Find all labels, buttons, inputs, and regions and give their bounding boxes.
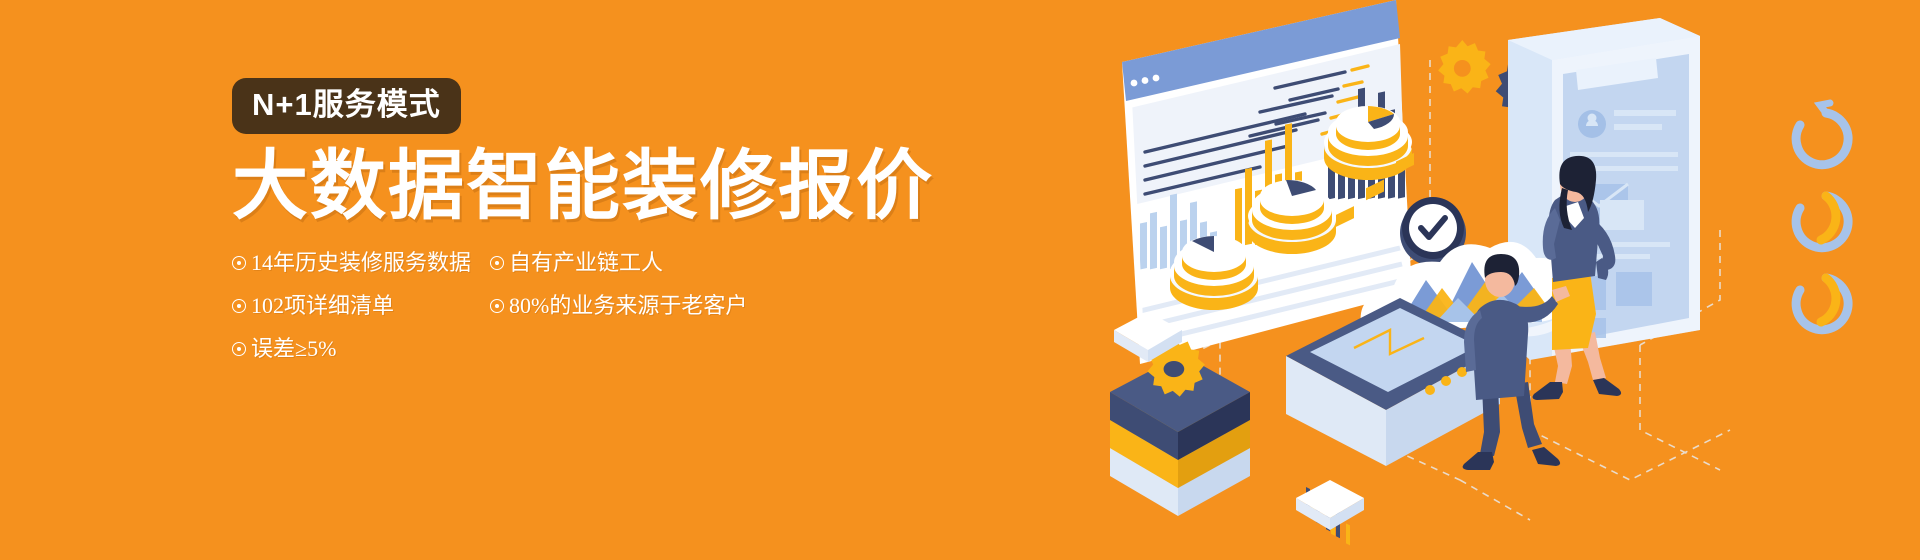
list-item-label: 14年历史装修服务数据: [251, 252, 471, 274]
list-item: 14年历史装修服务数据: [232, 252, 490, 274]
promo-banner: N+1服务模式 大数据智能装修报价 14年历史装修服务数据 102项详细清单 误…: [0, 0, 1920, 560]
database-gear-stack: [1110, 338, 1250, 516]
feature-column-right: 自有产业链工人 80%的业务来源于老客户: [490, 252, 810, 381]
page-title: 大数据智能装修报价: [232, 148, 992, 226]
gear-icon-yellow: [1438, 40, 1491, 94]
list-item-label: 80%的业务来源于老客户: [509, 295, 747, 317]
feature-list: 14年历史装修服务数据 102项详细清单 误差≥5% 自有产业链工人: [232, 252, 992, 381]
list-item: 误差≥5%: [232, 338, 490, 360]
isometric-illustration: [1100, 0, 1920, 560]
list-item-label: 自有产业链工人: [509, 252, 663, 274]
list-item: 80%的业务来源于老客户: [490, 295, 810, 317]
circled-dot-icon: [232, 256, 246, 270]
service-model-badge: N+1服务模式: [232, 78, 461, 134]
list-item-label: 102项详细清单: [251, 295, 394, 317]
circled-dot-icon: [490, 256, 504, 270]
circled-dot-icon: [232, 342, 246, 356]
circled-dot-icon: [490, 299, 504, 313]
list-item-label: 误差≥5%: [251, 338, 336, 360]
list-item: 102项详细清单: [232, 295, 490, 317]
list-item: 自有产业链工人: [490, 252, 810, 274]
feature-column-left: 14年历史装修服务数据 102项详细清单 误差≥5%: [232, 252, 490, 381]
circled-dot-icon: [232, 299, 246, 313]
ring-arrow-icon: [1796, 103, 1848, 330]
copy-block: N+1服务模式 大数据智能装修报价 14年历史装修服务数据 102项详细清单 误…: [232, 78, 992, 381]
